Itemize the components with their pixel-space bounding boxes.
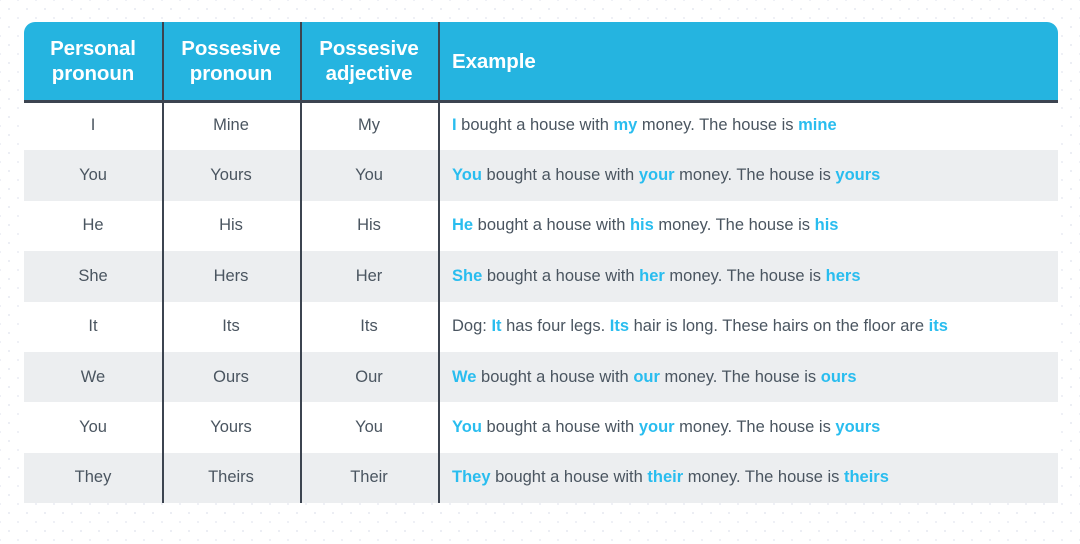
column-header-possesive-pronoun[interactable]: Possesive pronoun	[162, 22, 300, 100]
cell-personal-pronoun: I	[24, 100, 162, 150]
cell-possessive-pronoun: Ours	[162, 352, 300, 402]
table-row[interactable]: WeOursOurWe bought a house with our mone…	[24, 352, 1058, 402]
example-plain-text: money. The house is	[637, 116, 798, 134]
table-header-row: Personal pronoun Possesive pronoun Posse…	[24, 22, 1058, 100]
cell-example-sentence: They bought a house with their money. Th…	[438, 453, 1058, 503]
cell-personal-pronoun: We	[24, 352, 162, 402]
example-plain-text: bought a house with	[473, 216, 630, 234]
example-highlight-word: his	[815, 216, 839, 234]
table-row[interactable]: IMineMyI bought a house with my money. T…	[24, 100, 1058, 150]
example-plain-text: bought a house with	[482, 418, 639, 436]
example-highlight-word: hers	[826, 267, 861, 285]
example-highlight-word: She	[452, 267, 482, 285]
cell-example-sentence: You bought a house with your money. The …	[438, 402, 1058, 452]
example-plain-text: money. The house is	[654, 216, 815, 234]
example-plain-text: bought a house with	[482, 267, 639, 285]
table-row[interactable]: YouYoursYouYou bought a house with your …	[24, 150, 1058, 200]
column-header-possesive-pronoun-line2: pronoun	[162, 61, 300, 86]
example-highlight-word: his	[630, 216, 654, 234]
cell-possessive-pronoun: Hers	[162, 251, 300, 301]
example-plain-text: bought a house with	[482, 166, 639, 184]
cell-possessive-pronoun: His	[162, 201, 300, 251]
example-highlight-word: mine	[798, 116, 837, 134]
table-header: Personal pronoun Possesive pronoun Posse…	[24, 22, 1058, 100]
cell-possessive-adjective: Her	[300, 251, 438, 301]
column-header-possesive-pronoun-line1: Possesive	[162, 36, 300, 61]
cell-example-sentence: She bought a house with her money. The h…	[438, 251, 1058, 301]
example-highlight-word: It	[491, 317, 501, 335]
table-row[interactable]: TheyTheirsTheirThey bought a house with …	[24, 453, 1058, 503]
example-plain-text: money. The house is	[675, 418, 836, 436]
cell-possessive-adjective: My	[300, 100, 438, 150]
cell-example-sentence: I bought a house with my money. The hous…	[438, 100, 1058, 150]
cell-example-sentence: You bought a house with your money. The …	[438, 150, 1058, 200]
cell-possessive-adjective: His	[300, 201, 438, 251]
example-highlight-word: my	[613, 116, 637, 134]
cell-personal-pronoun: It	[24, 302, 162, 352]
table-row[interactable]: HeHisHisHe bought a house with his money…	[24, 201, 1058, 251]
header-divider-rule	[24, 100, 1058, 103]
cell-example-sentence: Dog: It has four legs. Its hair is long.…	[438, 302, 1058, 352]
cell-possessive-adjective: Our	[300, 352, 438, 402]
column-header-possesive-adjective-line2: adjective	[300, 61, 438, 86]
example-highlight-word: your	[639, 418, 675, 436]
example-highlight-word: our	[633, 368, 660, 386]
cell-personal-pronoun: He	[24, 201, 162, 251]
cell-possessive-pronoun: Yours	[162, 402, 300, 452]
column-header-example-line1: Example	[452, 49, 1058, 74]
cell-personal-pronoun: You	[24, 150, 162, 200]
table-row[interactable]: YouYoursYouYou bought a house with your …	[24, 402, 1058, 452]
example-highlight-word: their	[647, 468, 683, 486]
cell-possessive-adjective: Their	[300, 453, 438, 503]
cell-possessive-pronoun: Yours	[162, 150, 300, 200]
example-highlight-word: Its	[610, 317, 629, 335]
pronoun-table: Personal pronoun Possesive pronoun Posse…	[24, 22, 1058, 503]
column-header-possesive-adjective-line1: Possesive	[300, 36, 438, 61]
example-highlight-word: He	[452, 216, 473, 234]
cell-possessive-adjective: You	[300, 402, 438, 452]
example-highlight-word: theirs	[844, 468, 889, 486]
example-plain-text: bought a house with	[476, 368, 633, 386]
column-header-personal-pronoun-line2: pronoun	[24, 61, 162, 86]
example-plain-text: bought a house with	[457, 116, 614, 134]
column-header-personal-pronoun-line1: Personal	[24, 36, 162, 61]
example-highlight-word: yours	[835, 166, 880, 184]
cell-possessive-pronoun: Its	[162, 302, 300, 352]
example-highlight-word: They	[452, 468, 491, 486]
cell-personal-pronoun: You	[24, 402, 162, 452]
example-highlight-word: yours	[835, 418, 880, 436]
cell-possessive-adjective: Its	[300, 302, 438, 352]
example-plain-text: bought a house with	[491, 468, 648, 486]
column-header-possesive-adjective[interactable]: Possesive adjective	[300, 22, 438, 100]
cell-possessive-adjective: You	[300, 150, 438, 200]
example-plain-text: hair is long. These hairs on the floor a…	[629, 317, 929, 335]
cell-possessive-pronoun: Mine	[162, 100, 300, 150]
example-highlight-word: your	[639, 166, 675, 184]
cell-personal-pronoun: They	[24, 453, 162, 503]
cell-personal-pronoun: She	[24, 251, 162, 301]
example-plain-text: has four legs.	[502, 317, 610, 335]
table-row[interactable]: SheHersHerShe bought a house with her mo…	[24, 251, 1058, 301]
example-highlight-word: her	[639, 267, 665, 285]
example-plain-text: money. The house is	[683, 468, 844, 486]
example-plain-text: money. The house is	[660, 368, 821, 386]
example-highlight-word: You	[452, 418, 482, 436]
page-root: Personal pronoun Possesive pronoun Posse…	[0, 0, 1080, 544]
column-header-personal-pronoun[interactable]: Personal pronoun	[24, 22, 162, 100]
cell-possessive-pronoun: Theirs	[162, 453, 300, 503]
cell-example-sentence: He bought a house with his money. The ho…	[438, 201, 1058, 251]
example-highlight-word: We	[452, 368, 476, 386]
example-plain-text: money. The house is	[665, 267, 826, 285]
cell-example-sentence: We bought a house with our money. The ho…	[438, 352, 1058, 402]
table-row[interactable]: ItItsItsDog: It has four legs. Its hair …	[24, 302, 1058, 352]
table-body: IMineMyI bought a house with my money. T…	[24, 100, 1058, 503]
pronoun-table-container: Personal pronoun Possesive pronoun Posse…	[24, 22, 1058, 518]
example-highlight-word: ours	[821, 368, 857, 386]
column-header-example[interactable]: Example	[438, 22, 1058, 100]
example-highlight-word: You	[452, 166, 482, 184]
example-plain-text: money. The house is	[675, 166, 836, 184]
example-plain-text: Dog:	[452, 317, 491, 335]
example-highlight-word: its	[929, 317, 948, 335]
